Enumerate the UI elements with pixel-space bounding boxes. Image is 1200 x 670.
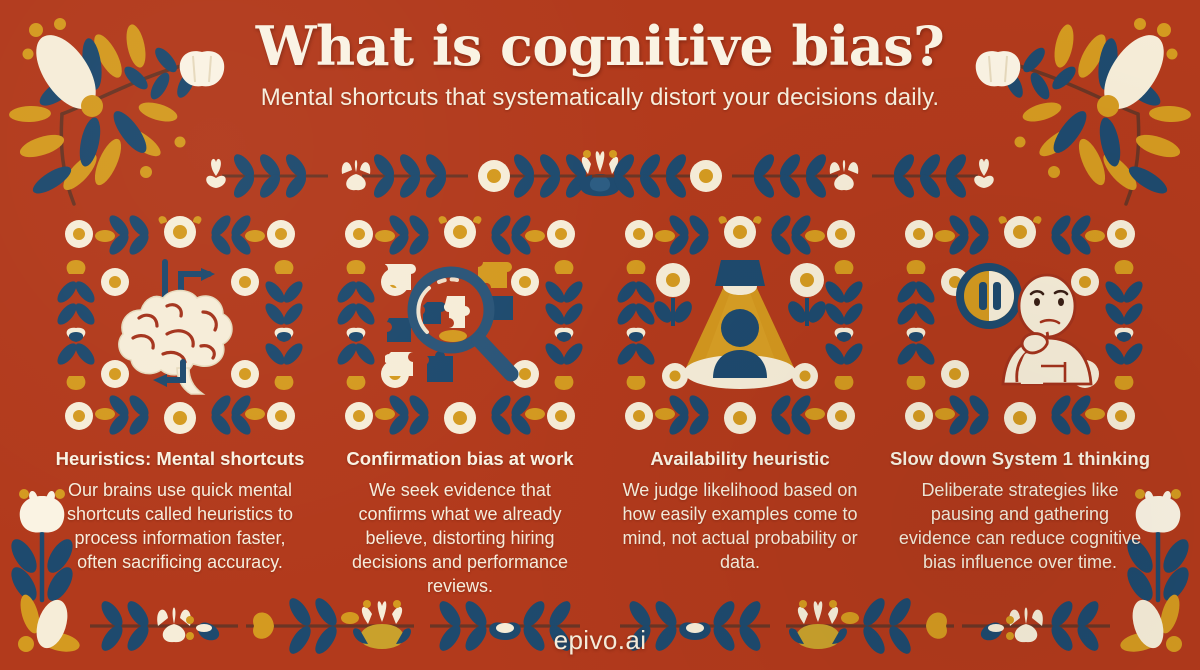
pause-button-icon xyxy=(956,263,1022,329)
icon-frame-3 xyxy=(617,214,863,436)
card-slow-thinking: Slow down System 1 thinking Deliberate s… xyxy=(880,214,1160,614)
card-heading: Confirmation bias at work xyxy=(346,448,573,470)
pause-thinker-icon xyxy=(945,250,1095,400)
header: What is cognitive bias? Mental shortcuts… xyxy=(0,0,1200,112)
vine-flower-divider xyxy=(190,148,1010,204)
card-availability-heuristic: Availability heuristic We judge likeliho… xyxy=(600,214,880,614)
page-title: What is cognitive bias? xyxy=(0,18,1200,74)
puzzle-piece-cream-tl xyxy=(385,264,416,290)
card-heuristics: Heuristics: Mental shortcuts Our brains … xyxy=(40,214,320,614)
card-body: Deliberate strategies like pausing and g… xyxy=(894,479,1146,575)
puzzle-piece-navy-b xyxy=(427,351,453,382)
infographic-poster: What is cognitive bias? Mental shortcuts… xyxy=(0,0,1200,670)
card-confirmation-bias: Confirmation bias at work We seek eviden… xyxy=(320,214,600,614)
brain-with-arrows-icon xyxy=(105,250,255,400)
card-heading: Availability heuristic xyxy=(650,448,829,470)
magnifier-puzzle-icon xyxy=(385,250,535,400)
card-heading: Heuristics: Mental shortcuts xyxy=(56,448,305,470)
puzzle-piece-cream-bl xyxy=(385,352,413,376)
icon-frame-1 xyxy=(57,214,303,436)
cards-row: Heuristics: Mental shortcuts Our brains … xyxy=(40,214,1160,614)
icon-frame-4 xyxy=(897,214,1143,436)
brand-footer: epivo.ai xyxy=(0,625,1200,656)
spotlight-person-icon xyxy=(665,250,815,400)
card-body: We seek evidence that confirms what we a… xyxy=(334,479,586,599)
card-body: Our brains use quick mental shortcuts ca… xyxy=(54,479,306,575)
card-heading: Slow down System 1 thinking xyxy=(890,448,1150,470)
page-subtitle: Mental shortcuts that systematically dis… xyxy=(0,84,1200,112)
card-body: We judge likelihood based on how easily … xyxy=(614,479,866,575)
icon-frame-2 xyxy=(337,214,583,436)
